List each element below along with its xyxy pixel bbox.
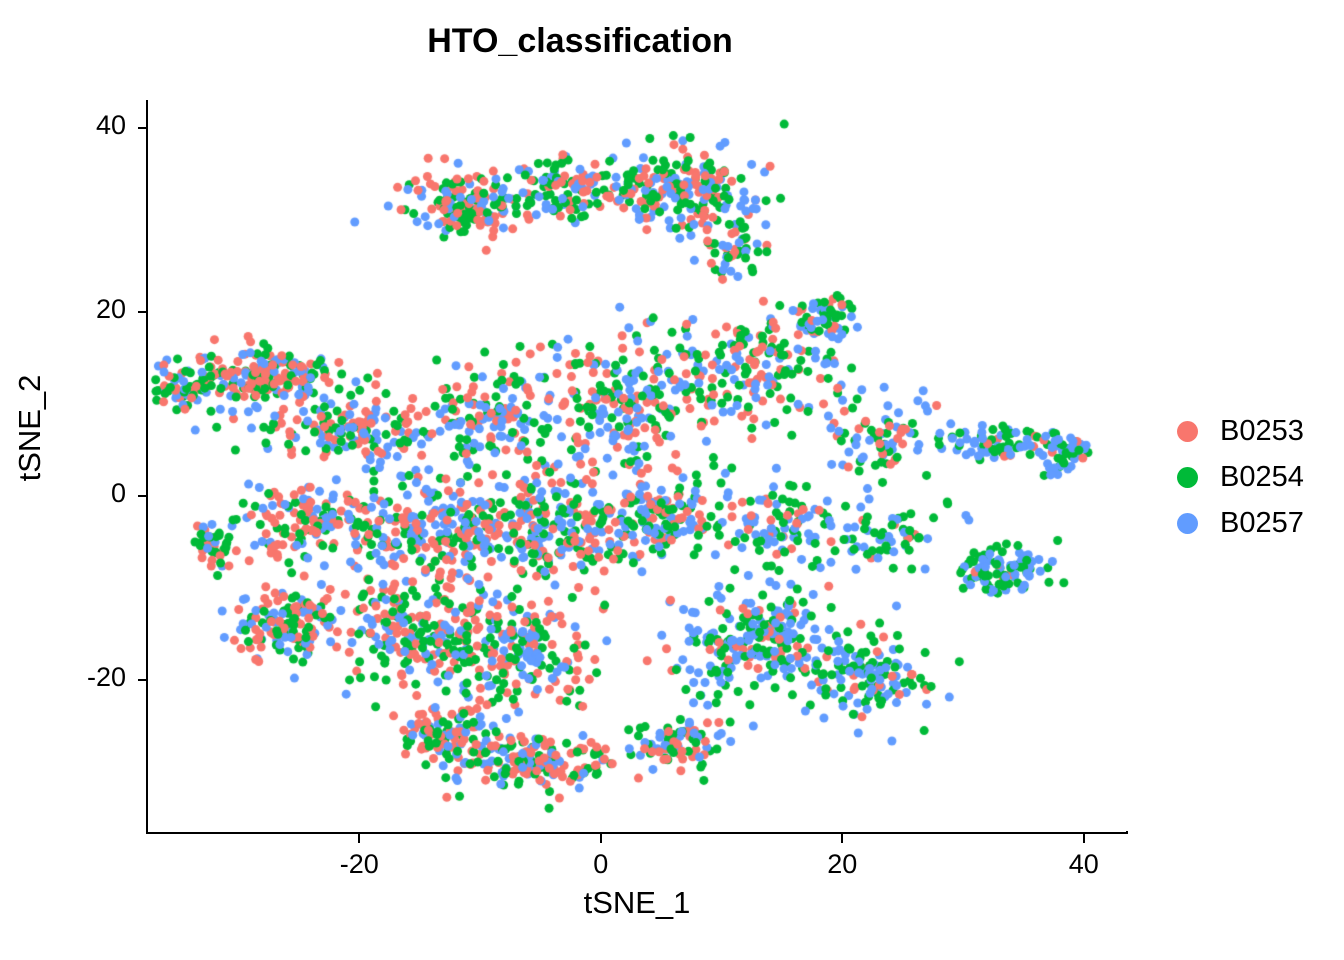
x-tick-label: 40 [1014,849,1154,880]
x-tick-label: -20 [289,849,429,880]
y-tick-mark [138,127,147,129]
y-tick-mark [138,495,147,497]
page-title: HTO_classification [0,22,1160,61]
legend-item[interactable]: B0254 [1168,458,1304,496]
x-axis-title: tSNE_1 [148,885,1126,921]
legend-item[interactable]: B0257 [1168,504,1304,542]
y-tick-label: -20 [0,662,126,693]
legend-key [1168,412,1206,450]
legend-item[interactable]: B0253 [1168,412,1304,450]
x-tick-mark [358,834,360,843]
x-tick-label: 20 [772,849,912,880]
y-tick-label: 40 [0,110,126,141]
plot-panel [148,100,1126,832]
y-axis-title: tSNE_2 [12,328,48,528]
scatter-points-layer [148,100,1126,832]
legend-dot-icon [1177,513,1198,534]
tsne-scatter-plot: HTO_classification -2002040 -2002040 tSN… [0,0,1344,960]
legend-key [1168,458,1206,496]
y-tick-label: 20 [0,294,126,325]
y-tick-mark [138,311,147,313]
x-tick-mark [1083,834,1085,843]
y-tick-mark [138,679,147,681]
x-tick-label: 0 [531,849,671,880]
legend: B0253B0254B0257 [1168,412,1304,542]
legend-item-label: B0254 [1220,461,1304,494]
legend-key [1168,504,1206,542]
legend-item-label: B0253 [1220,415,1304,448]
x-tick-mark [600,834,602,843]
legend-item-label: B0257 [1220,507,1304,540]
x-tick-mark [841,834,843,843]
legend-dot-icon [1177,467,1198,488]
legend-dot-icon [1177,421,1198,442]
